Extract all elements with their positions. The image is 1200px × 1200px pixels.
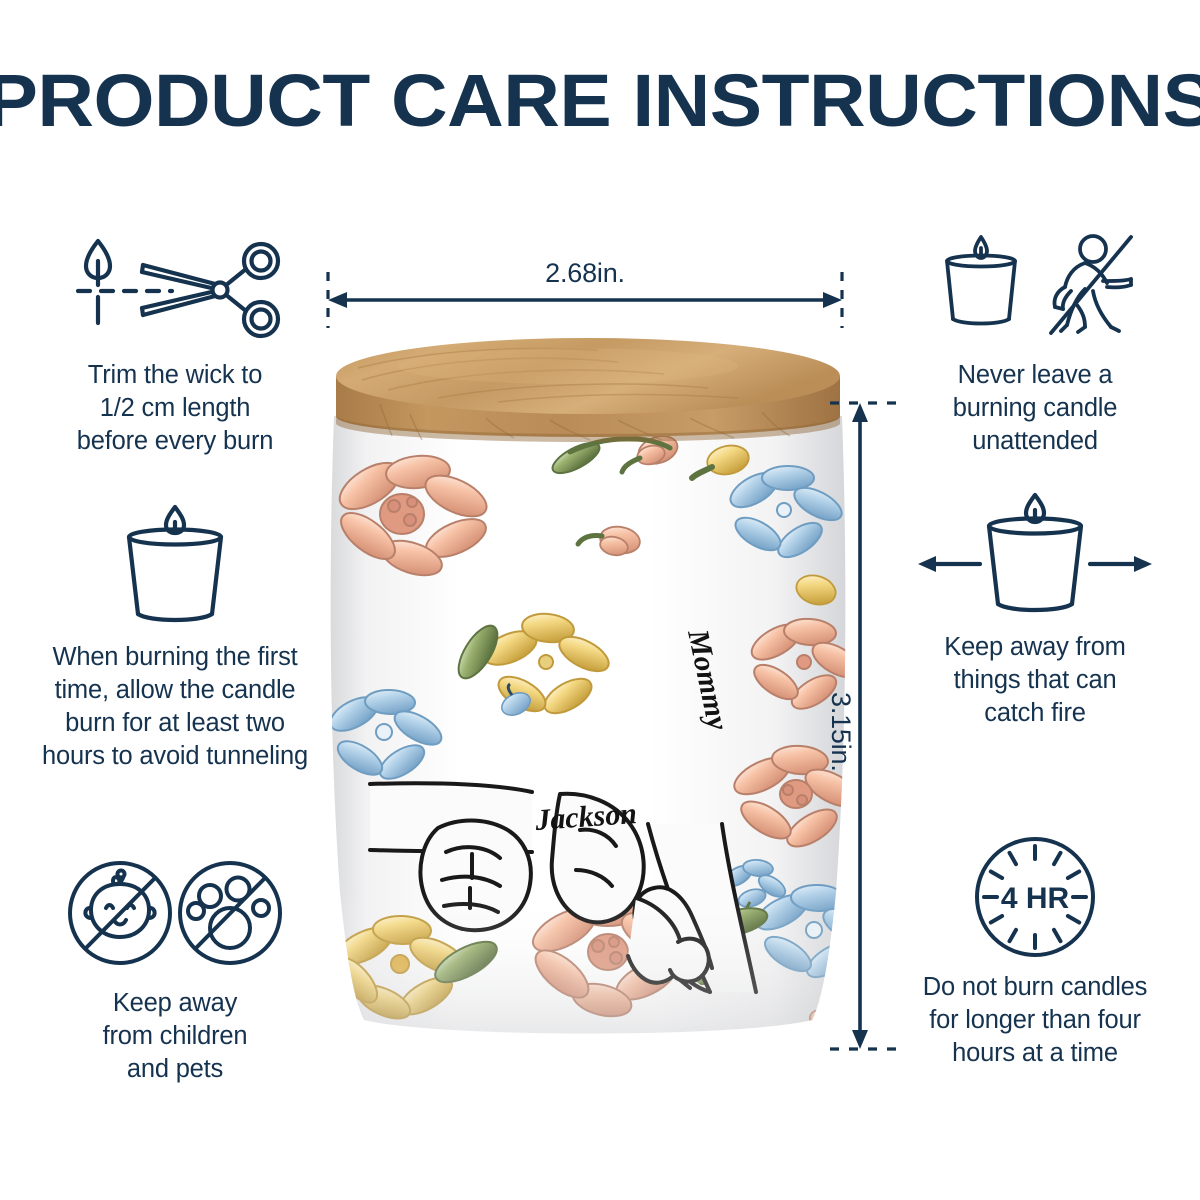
care-item-label: Keep away from children and pets [20, 987, 330, 1086]
page-title: PRODUCT CARE INSTRUCTIONS [0, 58, 1200, 143]
care-item-children-pets: Keep away from children and pets [20, 853, 330, 1086]
care-item-label: Keep away from things that can catch fir… [880, 631, 1190, 730]
product-candle-jar-image: Jackson Mommy [318, 332, 858, 1048]
jar-wooden-lid [336, 338, 840, 442]
jar-body: Jackson Mommy [325, 416, 858, 1039]
care-item-label: When burning the first time, allow the c… [20, 641, 330, 773]
care-item-trim-wick: Trim the wick to 1/2 cm length before ev… [20, 225, 330, 458]
care-item-four-hours: 4 HR Do not burn candles for longer than… [880, 837, 1190, 1070]
care-item-label: Trim the wick to 1/2 cm length before ev… [20, 359, 330, 458]
care-item-first-burn: When burning the first time, allow the c… [20, 507, 330, 773]
dimension-height: 3.15in. [846, 400, 912, 1052]
clock-4hr-icon: 4 HR [880, 837, 1190, 957]
clock-hours-label: 4 HR [1001, 882, 1070, 915]
product-care-instructions-page: PRODUCT CARE INSTRUCTIONS [0, 0, 1200, 1200]
lit-candle-icon [20, 507, 330, 627]
scissors-trim-wick-icon [20, 225, 330, 345]
care-item-never-unattended: Never leave a burning candle unattended [880, 225, 1190, 458]
care-item-catch-fire: Keep away from things that can catch fir… [880, 497, 1190, 730]
care-item-label: Do not burn candles for longer than four… [880, 971, 1190, 1070]
candle-walking-person-icon [880, 225, 1190, 345]
dimension-width: 2.68in. [325, 258, 845, 334]
no-children-no-pets-icon [20, 853, 330, 973]
candle-clearance-arrows-icon [880, 497, 1190, 617]
care-item-label: Never leave a burning candle unattended [880, 359, 1190, 458]
